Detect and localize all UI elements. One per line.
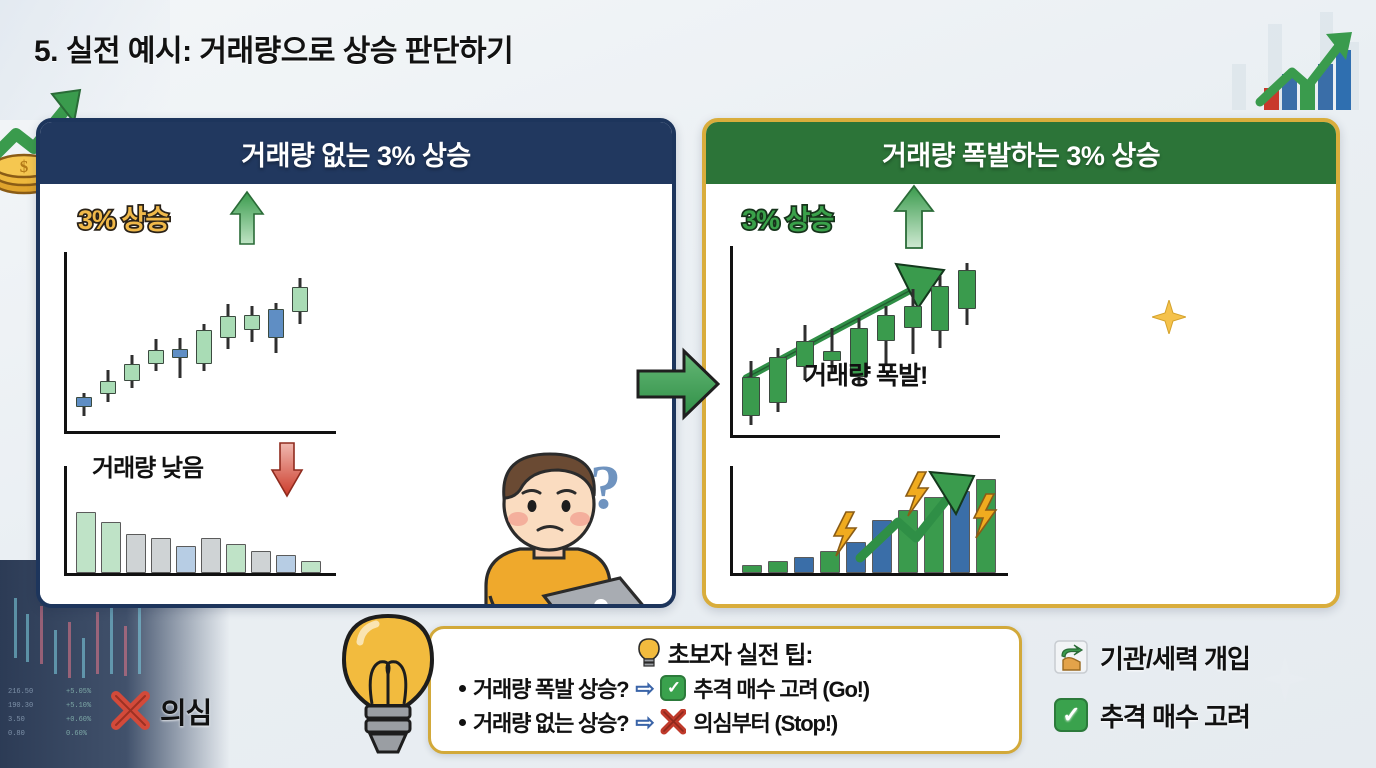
candle-body: [148, 350, 164, 364]
candle-body: [292, 287, 308, 311]
tip-line-1: 거래량 폭발 상승? ⇨ ✓ 추격 매수 고려 (Go!): [459, 672, 1019, 704]
candle-body: [742, 377, 760, 416]
volume-bar: [820, 551, 840, 573]
tip-answer-2: 의심부터 (Stop!): [693, 706, 837, 738]
volume-bar: [846, 542, 866, 573]
legend-label-institution: 기관/세력 개입: [1100, 639, 1250, 676]
volume-bar: [251, 551, 271, 573]
volume-bar: [794, 557, 814, 573]
volume-bar: [201, 538, 221, 573]
candlestick: [931, 257, 949, 435]
candle-body: [904, 306, 922, 329]
green-up-arrow-icon: [228, 190, 266, 246]
sparkle-icon: [1152, 300, 1186, 334]
candle-body: [244, 315, 260, 330]
tip-line-2: 거래량 없는 상승? ⇨ 의심부터 (Stop!): [459, 706, 1019, 738]
volume-bar: [898, 510, 918, 573]
candlestick: [244, 263, 260, 431]
green-up-arrow-icon: [892, 184, 936, 250]
candlestick: [958, 257, 976, 435]
candle-body: [220, 316, 236, 337]
legend-list: 기관/세력 개입 ✓ 추격 매수 고려: [1054, 628, 1374, 744]
candlestick: [76, 263, 92, 431]
candlestick: [148, 263, 164, 431]
candlestick: [268, 263, 284, 431]
tip-title-row: 초보자 실전 팁:: [431, 635, 1019, 670]
candle-wick: [179, 338, 182, 378]
page-title: 5. 실전 예시: 거래량으로 상승 판단하기: [34, 26, 513, 70]
legend-label-buy: 추격 매수 고려: [1100, 697, 1250, 734]
arrow-right-icon: ⇨: [635, 675, 653, 702]
candle-body: [958, 270, 976, 309]
right-volume-label: 거래량 폭발!: [804, 356, 927, 392]
candlestick: [742, 257, 760, 435]
volume-bar: [742, 565, 762, 573]
candlestick: [220, 263, 236, 431]
lightbulb-icon: [638, 638, 660, 668]
volume-bar: [176, 546, 196, 573]
panel-right-header: 거래량 폭발하는 3% 상승: [706, 122, 1336, 184]
beginner-tip-box: 초보자 실전 팁: 거래량 폭발 상승? ⇨ ✓ 추격 매수 고려 (Go!) …: [428, 626, 1022, 754]
legend-item-buy: ✓ 추격 매수 고려: [1054, 686, 1374, 744]
candlestick: [196, 263, 212, 431]
candlestick: [850, 257, 868, 435]
volume-bar: [226, 544, 246, 573]
candlestick: [877, 257, 895, 435]
candlestick: [124, 263, 140, 431]
red-x-icon: [660, 709, 686, 735]
candlestick: [823, 257, 841, 435]
green-check-icon: ✓: [1054, 698, 1088, 732]
flow-arrow-right-icon: [636, 345, 720, 423]
candle-body: [931, 286, 949, 331]
volume-bar: [301, 561, 321, 573]
candle-body: [877, 315, 895, 341]
candle-body: [196, 330, 212, 364]
right-price-label: 3% 상승: [742, 198, 833, 237]
volume-bar: [126, 534, 146, 573]
candle-body: [769, 357, 787, 402]
left-price-chart: [64, 252, 336, 434]
suspicion-label: 의심: [160, 690, 211, 732]
confused-investor-illustration: ?: [438, 446, 668, 608]
candlestick: [292, 263, 308, 431]
legend-item-institution: 기관/세력 개입: [1054, 628, 1374, 686]
right-price-chart: [730, 246, 1000, 438]
volume-bar: [976, 479, 996, 573]
candlestick: [769, 257, 787, 435]
volume-bar: [950, 491, 970, 573]
bullet-icon: [459, 719, 466, 726]
candle-body: [100, 381, 116, 395]
left-price-label: 3% 상승: [78, 198, 169, 237]
institution-hand-icon: [1054, 640, 1088, 674]
volume-bar: [76, 512, 96, 573]
tip-title-text: 초보자 실전 팁:: [668, 635, 813, 670]
suspicion-callout: 의심: [110, 690, 211, 732]
candlestick: [172, 263, 188, 431]
volume-bar: [924, 497, 944, 573]
panel-left-header: 거래량 없는 3% 상승: [40, 122, 672, 184]
panel-volume-surge: 거래량 폭발하는 3% 상승 3% 상승 거래량 폭발!: [702, 118, 1340, 608]
bullet-icon: [459, 685, 466, 692]
arrow-right-icon: ⇨: [635, 709, 653, 736]
candle-body: [124, 364, 140, 381]
volume-bar: [768, 561, 788, 573]
candle-body: [172, 349, 188, 358]
candle-body: [268, 309, 284, 338]
candle-body: [76, 397, 92, 406]
svg-text:$: $: [20, 157, 29, 176]
volume-bar: [151, 538, 171, 573]
tip-answer-1: 추격 매수 고려 (Go!): [693, 672, 869, 704]
panel-right-body: 3% 상승 거래량 폭발!: [706, 184, 1336, 604]
tip-question-1: 거래량 폭발 상승?: [473, 672, 628, 704]
lightbulb-icon: [336, 612, 440, 762]
tip-question-2: 거래량 없는 상승?: [473, 706, 628, 738]
right-volume-chart: [730, 466, 1008, 576]
red-x-icon: [110, 691, 150, 731]
green-check-icon: ✓: [660, 675, 686, 701]
candlestick: [904, 257, 922, 435]
panel-left-body: 3% 상승 거래량 낮음 ?: [40, 184, 672, 604]
volume-bar: [276, 555, 296, 573]
left-volume-chart: [64, 466, 336, 576]
panel-no-volume: 거래량 없는 3% 상승 3% 상승 거래량 낮음 ?: [36, 118, 676, 608]
candlestick: [100, 263, 116, 431]
background-growth-chart-icon: [1220, 2, 1370, 122]
volume-bar: [872, 520, 892, 573]
candlestick: [796, 257, 814, 435]
volume-bar: [101, 522, 121, 573]
